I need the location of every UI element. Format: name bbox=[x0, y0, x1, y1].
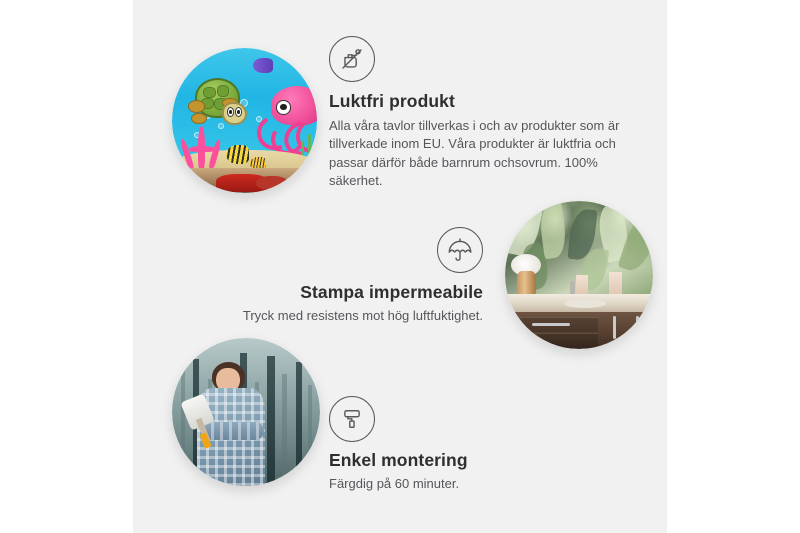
turtle-shell-spot bbox=[203, 87, 216, 98]
turtle-shell-spot bbox=[217, 85, 230, 96]
coral-branch bbox=[208, 139, 223, 170]
no-fragrance-icon bbox=[329, 36, 375, 82]
tree-shape bbox=[308, 385, 312, 486]
feature-block-waterproof: Stampa impermeabile Tryck med resistens … bbox=[183, 227, 483, 325]
paint-roller-icon bbox=[329, 396, 375, 442]
content-panel: Luktfri produkt Alla våra tavlor tillver… bbox=[133, 0, 667, 533]
woman-arm bbox=[202, 422, 264, 440]
bathroom-drawer bbox=[518, 333, 598, 349]
image-sea-underwater-inner bbox=[172, 48, 317, 193]
turtle-head bbox=[222, 102, 247, 125]
feature-title: Stampa impermeabile bbox=[183, 282, 483, 303]
image-forest-painter-inner bbox=[172, 338, 320, 486]
fish-purple-icon bbox=[253, 58, 273, 73]
turtle-eye bbox=[227, 107, 234, 117]
feature-block-odourless: Luktfri produkt Alla våra tavlor tillver… bbox=[329, 36, 634, 191]
feature-title: Enkel montering bbox=[329, 450, 599, 471]
feature-block-assembly: Enkel montering Färgdig på 60 minuter. bbox=[329, 396, 599, 493]
turtle-eye bbox=[235, 107, 242, 117]
feature-description: Färgdig på 60 minuter. bbox=[329, 475, 599, 493]
tree-shape bbox=[267, 356, 275, 486]
coral-branch bbox=[179, 137, 195, 170]
coral-branch bbox=[189, 146, 214, 152]
image-sea-underwater bbox=[172, 48, 317, 193]
turtle-fin bbox=[191, 113, 207, 125]
turtle-icon bbox=[187, 78, 245, 126]
feature-description: Alla våra tavlor tillverkas i och av pro… bbox=[329, 117, 634, 191]
fish-yellow-icon bbox=[226, 145, 249, 164]
image-bathroom-wallpaper-inner bbox=[505, 201, 653, 349]
turtle-fin bbox=[188, 100, 205, 113]
bathroom-handle bbox=[532, 323, 569, 326]
product-feature-infographic: Luktfri produkt Alla våra tavlor tillver… bbox=[0, 0, 800, 533]
bathroom-handle bbox=[636, 316, 639, 339]
feature-description: Tryck med resistens mot hög luftfuktighe… bbox=[183, 307, 483, 325]
tree-shape bbox=[296, 362, 302, 486]
tree-shape bbox=[181, 371, 185, 486]
crab-icon bbox=[256, 176, 288, 191]
image-forest-painter bbox=[172, 338, 320, 486]
image-bathroom-wallpaper bbox=[505, 201, 653, 349]
tree-shape bbox=[282, 374, 287, 486]
bathroom-sink bbox=[564, 299, 605, 308]
bathroom-cabinet bbox=[509, 312, 653, 349]
umbrella-icon bbox=[437, 227, 483, 273]
bathroom-handle bbox=[613, 316, 616, 339]
feature-title: Luktfri produkt bbox=[329, 91, 634, 112]
coral-icon bbox=[179, 126, 225, 170]
octopus-eye bbox=[276, 100, 292, 115]
